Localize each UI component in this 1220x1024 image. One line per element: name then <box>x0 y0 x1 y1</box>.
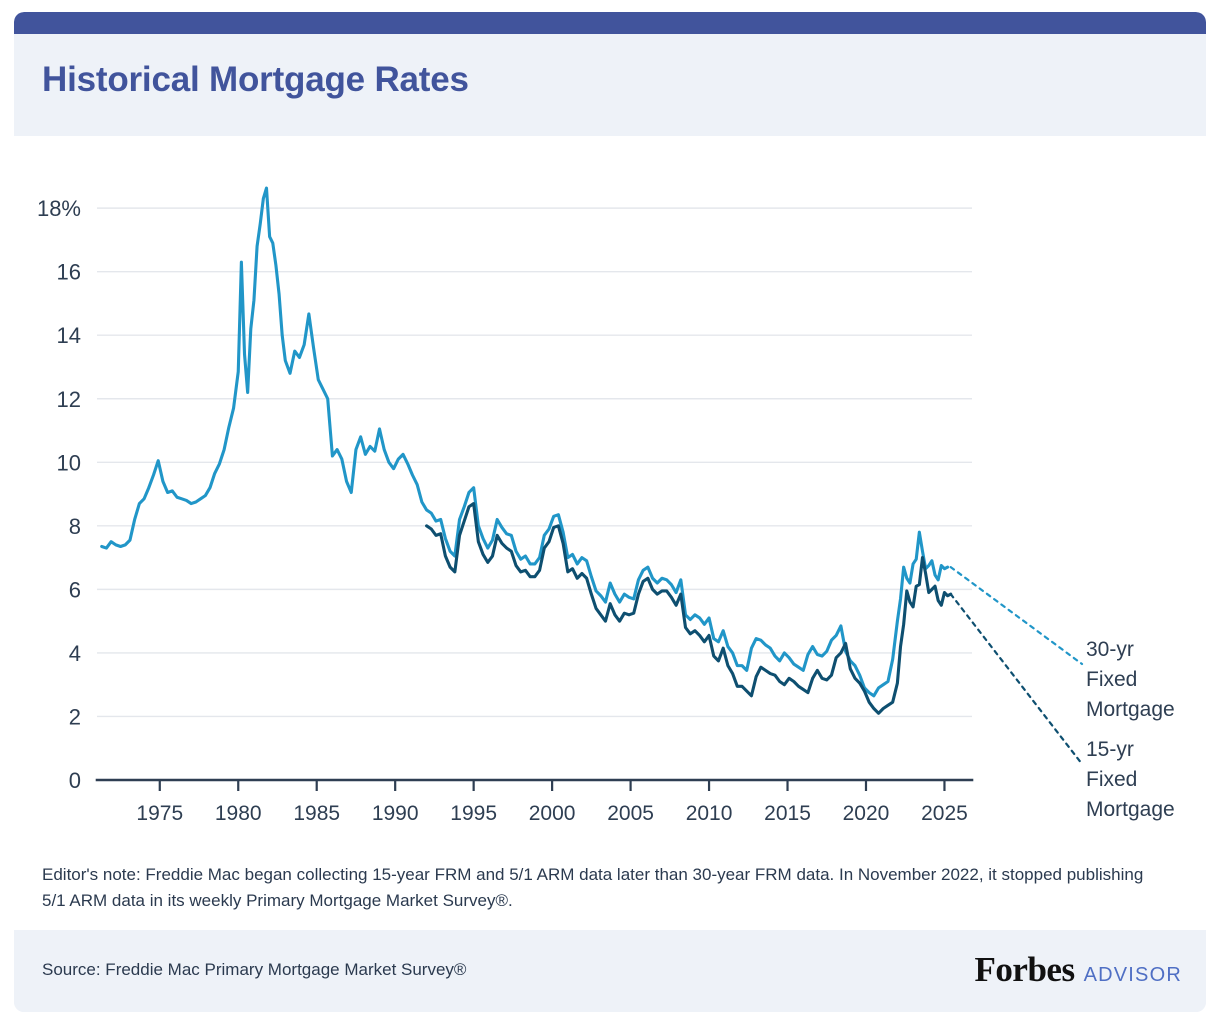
series-line-15yr <box>427 504 951 714</box>
chart-card: Historical Mortgage Rates 02468101214161… <box>14 12 1206 1012</box>
chart-inline-legend: 30-yrFixedMortgage15-yrFixedMortgage <box>951 567 1175 821</box>
forbes-wordmark: Forbes <box>975 952 1075 987</box>
y-axis-tick-label: 2 <box>69 704 81 729</box>
chart-series-group <box>102 188 951 713</box>
series-line-30yr <box>102 188 948 696</box>
x-axis-tick-label: 1975 <box>136 802 183 825</box>
chart-footer: Source: Freddie Mac Primary Mortgage Mar… <box>14 930 1206 1012</box>
page-title: Historical Mortgage Rates <box>42 60 469 100</box>
series-legend-label: 15-yr <box>1086 738 1134 761</box>
legend-leader-line <box>951 594 1082 764</box>
advisor-wordmark: ADVISOR <box>1084 965 1182 985</box>
series-legend-label: Fixed <box>1086 768 1137 791</box>
x-axis-tick-label: 1980 <box>215 802 262 825</box>
y-axis-tick-label: 10 <box>57 450 81 475</box>
x-axis-tick-label: 2015 <box>764 802 811 825</box>
x-axis-tick-label: 2000 <box>529 802 576 825</box>
series-legend-label: 30-yr <box>1086 638 1134 661</box>
series-legend-label: Fixed <box>1086 668 1137 691</box>
x-axis-tick-label: 1995 <box>450 802 497 825</box>
series-legend-label: Mortgage <box>1086 698 1175 721</box>
x-axis-tick-label: 2020 <box>843 802 890 825</box>
y-axis-tick-label: 14 <box>57 323 81 348</box>
y-axis-tick-label: 8 <box>69 514 81 539</box>
y-axis-tick-label: 4 <box>69 641 81 666</box>
y-axis-tick-label: 12 <box>57 387 81 412</box>
x-axis-tick-label: 1990 <box>372 802 419 825</box>
y-axis-tick-label: 0 <box>69 768 81 793</box>
y-axis-tick-label: 18% <box>37 196 81 221</box>
x-axis-tick-labels: 1975198019851990199520002005201020152020… <box>136 802 967 825</box>
x-axis-tick-label: 2005 <box>607 802 654 825</box>
editors-note-text: Editor's note: Freddie Mac began collect… <box>42 862 1162 915</box>
y-axis-tick-label: 16 <box>57 260 81 285</box>
series-legend-label: Mortgage <box>1086 798 1175 821</box>
mortgage-rates-line-chart: 024681012141618% 19751980198519901995200… <box>14 136 1206 852</box>
chart-axes <box>97 780 972 791</box>
forbes-advisor-logo: Forbes ADVISOR <box>975 952 1182 987</box>
x-axis-tick-label: 1985 <box>293 802 340 825</box>
y-axis-tick-labels: 024681012141618% <box>37 196 81 793</box>
y-axis-tick-label: 6 <box>69 577 81 602</box>
chart-plot-area: 024681012141618% 19751980198519901995200… <box>14 136 1206 852</box>
x-axis-tick-label: 2010 <box>686 802 733 825</box>
source-attribution: Source: Freddie Mac Primary Mortgage Mar… <box>42 960 466 980</box>
x-axis-tick-label: 2025 <box>921 802 968 825</box>
legend-leader-line <box>951 567 1082 664</box>
editors-note: Editor's note: Freddie Mac began collect… <box>14 852 1206 930</box>
chart-gridlines <box>97 208 972 716</box>
card-top-accent-bar <box>14 12 1206 34</box>
